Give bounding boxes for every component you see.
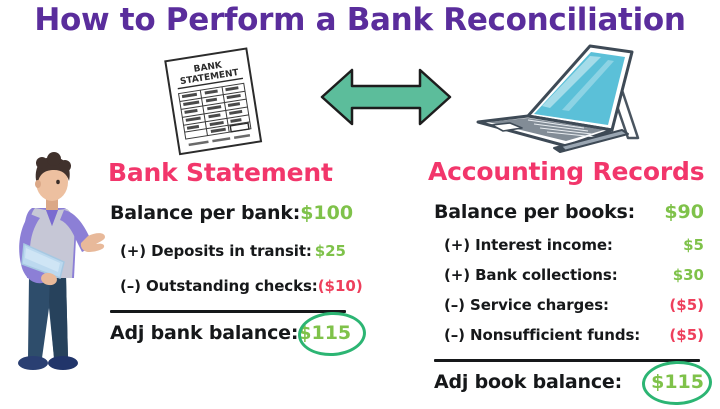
right-row-interest-income: (+) Interest income: $5 (434, 236, 704, 254)
row-amount: $5 (642, 236, 704, 254)
left-column-heading: Bank Statement (108, 158, 333, 187)
row-label: (–) Service charges: (434, 296, 642, 314)
right-row-nonsufficient-funds: (–) Nonsufficient funds: ($5) (434, 326, 704, 344)
left-total-rule (110, 310, 346, 313)
double-arrow-icon (318, 62, 454, 132)
row-label: (–) Outstanding checks: (110, 277, 318, 295)
right-row-balance-per-books: Balance per books: $90 (434, 201, 704, 223)
bank-statement-document-illustration: BANK STATEMENT (150, 44, 280, 156)
row-amount: $115 (632, 371, 704, 393)
infographic-canvas: How to Perform a Bank Reconciliation BAN… (0, 0, 720, 409)
row-label: Adj bank balance: (110, 322, 298, 344)
left-row-outstanding-checks: (–) Outstanding checks: ($10) (110, 277, 346, 295)
row-amount: ($5) (642, 326, 704, 344)
right-row-adj-book-balance: Adj book balance: $115 (434, 371, 704, 393)
page-title: How to Perform a Bank Reconciliation (0, 2, 720, 38)
row-amount: $25 (312, 242, 346, 260)
row-amount: $90 (635, 201, 704, 223)
row-label: (–) Nonsufficient funds: (434, 326, 642, 344)
right-column-heading: Accounting Records (428, 157, 704, 186)
row-label: Balance per books: (434, 201, 635, 223)
laptop-illustration (462, 42, 652, 154)
row-amount: ($5) (642, 296, 704, 314)
row-label: (+) Deposits in transit: (110, 242, 312, 260)
left-row-deposits-in-transit: (+) Deposits in transit: $25 (110, 242, 346, 260)
row-amount: $100 (300, 202, 353, 224)
presenter-character-illustration (2, 152, 106, 394)
right-total-rule (434, 359, 700, 362)
left-row-balance-per-bank: Balance per bank: $100 (110, 202, 346, 224)
right-row-bank-collections: (+) Bank collections: $30 (434, 266, 704, 284)
row-label: Balance per bank: (110, 202, 300, 224)
row-amount: $115 (298, 322, 351, 344)
row-label: Adj book balance: (434, 371, 632, 393)
document-svg: BANK STATEMENT (150, 44, 280, 156)
row-label: (+) Interest income: (434, 236, 642, 254)
laptop-svg (462, 42, 652, 154)
row-amount: $30 (642, 266, 704, 284)
row-amount: ($10) (318, 277, 363, 295)
left-row-adj-bank-balance: Adj bank balance: $115 (110, 322, 346, 344)
double-headed-arrow-illustration (318, 62, 454, 132)
person-svg (2, 152, 106, 394)
right-row-service-charges: (–) Service charges: ($5) (434, 296, 704, 314)
row-label: (+) Bank collections: (434, 266, 642, 284)
